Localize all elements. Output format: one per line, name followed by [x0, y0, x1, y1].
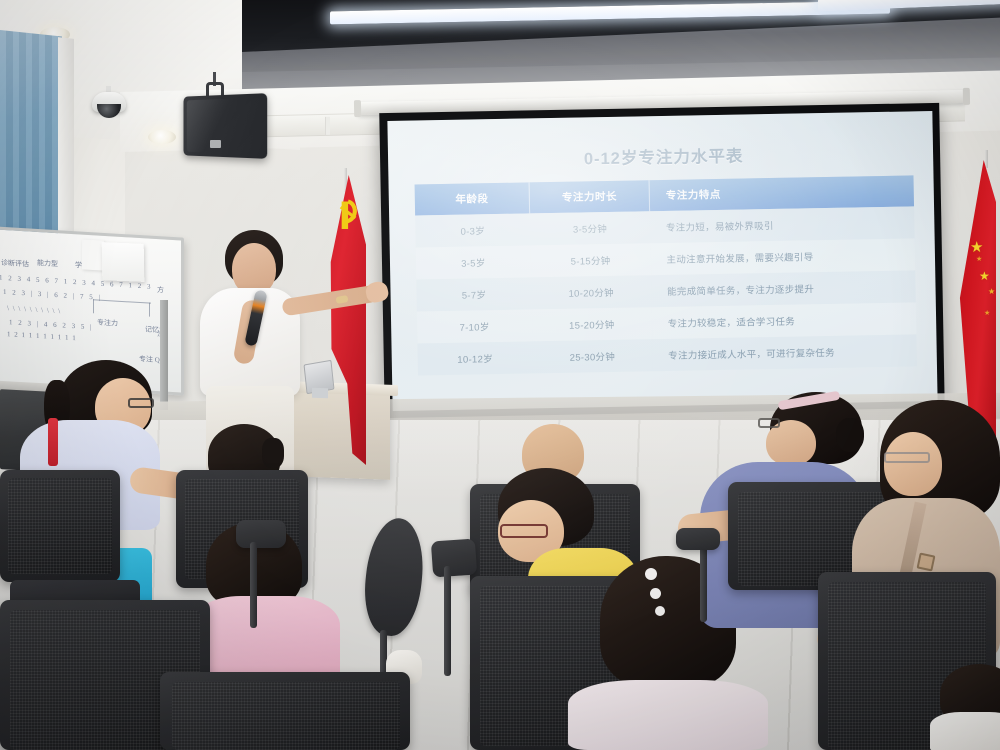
hair-tie [262, 438, 284, 468]
cell-feature: 专注力接近成人水平，可进行复杂任务 [652, 334, 917, 371]
cell-duration: 25-30分钟 [532, 339, 652, 373]
communist-party-flag [330, 175, 366, 465]
projection-screen: 0-12岁专注力水平表 年龄段 专注力时长 专注力特点 0-3岁 3-5分钟 专… [387, 111, 937, 411]
cell-feature: 专注力短，易被外界吸引 [650, 206, 915, 243]
bag-buckle-icon [917, 553, 936, 572]
glasses-icon [500, 524, 548, 538]
wall-speaker-icon [183, 93, 267, 159]
ponytail [836, 418, 864, 452]
column-header-age: 年龄段 [415, 182, 530, 215]
whiteboard-stand [160, 300, 168, 410]
head [884, 432, 942, 496]
attention-level-table: 年龄段 专注力时长 专注力特点 0-3岁 3-5分钟 专注力短，易被外界吸引 3… [415, 175, 917, 375]
laptop-stand [312, 388, 328, 399]
slide-title: 0-12岁专注力水平表 [414, 139, 913, 172]
hair-clip-icon [645, 568, 657, 580]
shirt [930, 712, 1000, 750]
column-header-feature: 专注力特点 [649, 175, 914, 211]
lanyard [48, 418, 58, 466]
whiteboard-paper [102, 242, 145, 282]
downlight-icon [148, 130, 176, 144]
flag-star-icon: ★ [976, 256, 982, 263]
cell-age: 10-12岁 [417, 341, 532, 375]
slide-content: 0-12岁专注力水平表 年龄段 专注力时长 专注力特点 0-3岁 3-5分钟 专… [387, 111, 937, 411]
cell-duration: 5-15分钟 [530, 243, 650, 277]
hair-clip-icon [650, 588, 661, 599]
flag-star-icon: ★ [988, 288, 995, 296]
cell-feature: 专注力较稳定，适合学习任务 [651, 302, 916, 339]
cell-age: 7-10岁 [417, 309, 532, 343]
shirt [568, 680, 768, 750]
cell-age: 5-7岁 [416, 277, 531, 311]
column-header-duration: 专注力时长 [529, 180, 649, 213]
flag-star-icon: ★ [970, 240, 983, 255]
cell-duration: 3-5分钟 [530, 211, 650, 245]
chair-tablet-arm[interactable] [676, 528, 720, 550]
flag-star-icon: ★ [984, 310, 990, 317]
shirt [190, 596, 340, 682]
hair-clip-icon [655, 606, 665, 616]
cell-duration: 10-20分钟 [531, 275, 651, 309]
flag-star-icon: ★ [979, 270, 990, 282]
hammer-and-sickle-icon [338, 197, 360, 239]
chair-tablet-arm[interactable] [431, 539, 477, 578]
glasses-icon [128, 398, 154, 408]
chair-tablet-arm[interactable] [236, 520, 286, 548]
speaker-badge [210, 140, 221, 148]
glasses-icon [758, 418, 780, 428]
cell-feature: 能完成简单任务，专注力逐步提升 [651, 270, 916, 307]
cell-age: 0-3岁 [415, 213, 530, 247]
whiteboard-paper [82, 239, 104, 270]
classroom-photo-scene: 0-12岁专注力水平表 年龄段 专注力时长 专注力特点 0-3岁 3-5分钟 专… [0, 0, 1000, 750]
cell-feature: 主动注意开始发展，需要兴趣引导 [650, 238, 915, 275]
glasses-icon [884, 452, 930, 463]
cell-duration: 15-20分钟 [532, 307, 652, 341]
cell-age: 3-5岁 [416, 245, 531, 279]
